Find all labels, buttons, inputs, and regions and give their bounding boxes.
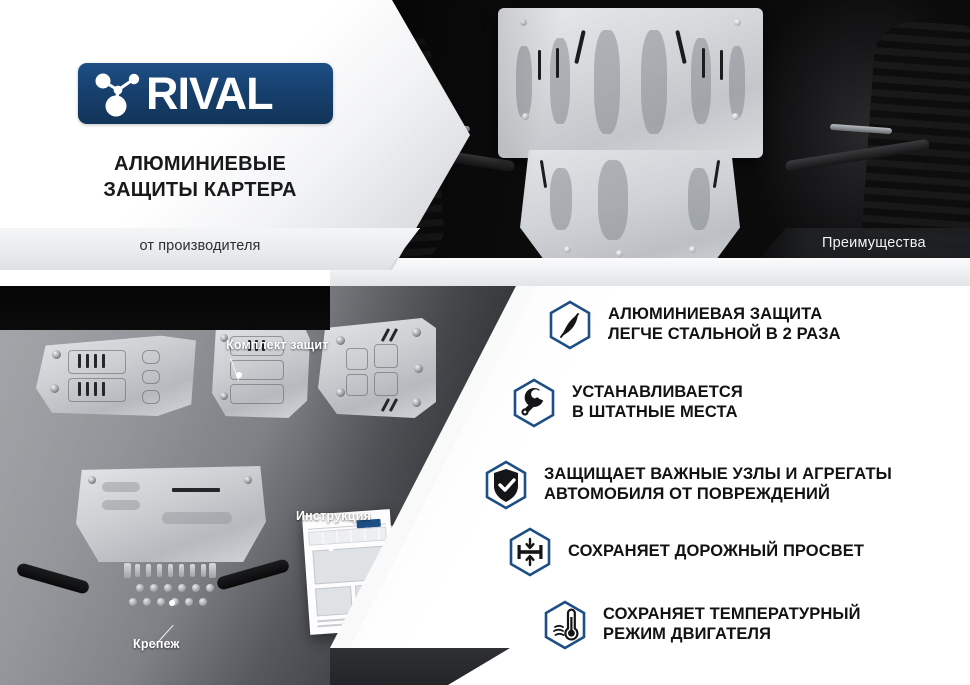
shield-check-icon xyxy=(484,460,528,510)
skid-plate-main xyxy=(76,466,266,562)
callout-hardware: Крепеж xyxy=(133,637,180,651)
feather-icon xyxy=(548,300,592,350)
advantages-tab-label: Преимущества xyxy=(822,235,926,251)
page-subtitle: от производителя xyxy=(0,238,400,254)
dark-separator-bar xyxy=(0,286,330,330)
rival-logo: RIVAL xyxy=(78,63,333,124)
thermometer-icon xyxy=(543,600,587,650)
wrench-icon xyxy=(512,378,556,428)
feature-row-4: СОХРАНЯЕТ ТЕМПЕРАТУРНЫЙ РЕЖИМ ДВИГАТЕЛЯ xyxy=(543,600,861,650)
callout-manual: Инструкция xyxy=(296,509,371,523)
ground-clearance-icon xyxy=(508,527,552,577)
feature-label-2: ЗАЩИЩАЕТ ВАЖНЫЕ УЗЛЫ И АГРЕГАТЫ АВТОМОБИ… xyxy=(544,465,892,505)
skid-plate-3 xyxy=(318,318,436,418)
feature-row-2: ЗАЩИЩАЕТ ВАЖНЫЕ УЗЛЫ И АГРЕГАТЫ АВТОМОБИ… xyxy=(484,460,892,510)
callout-dot-kit xyxy=(236,372,242,378)
callout-dot-manual xyxy=(328,545,334,551)
feature-row-1: УСТАНАВЛИВАЕТСЯ В ШТАТНЫЕ МЕСТА xyxy=(512,378,743,428)
page-title-line2: ЗАЩИТЫ КАРТЕРА xyxy=(0,178,400,204)
feature-row-0: АЛЮМИНИЕВАЯ ЗАЩИТА ЛЕГЧЕ СТАЛЬНОЙ В 2 РА… xyxy=(548,300,841,350)
feature-label-1: УСТАНАВЛИВАЕТСЯ В ШТАТНЫЕ МЕСТА xyxy=(572,383,743,423)
page-title-line1: АЛЮМИНИЕВЫЕ xyxy=(0,152,400,178)
feature-label-0: АЛЮМИНИЕВАЯ ЗАЩИТА ЛЕГЧЕ СТАЛЬНОЙ В 2 РА… xyxy=(608,305,841,345)
page-title: АЛЮМИНИЕВЫЕ ЗАЩИТЫ КАРТЕРА xyxy=(0,152,400,203)
callout-dot-hardware xyxy=(169,600,175,606)
feature-label-4: СОХРАНЯЕТ ТЕМПЕРАТУРНЫЙ РЕЖИМ ДВИГАТЕЛЯ xyxy=(603,605,861,645)
skid-plate-1 xyxy=(36,334,196,416)
advantages-tab: Преимущества xyxy=(760,228,970,258)
skid-plate-2 xyxy=(212,322,310,418)
infographic-banner: Преимущества RIVAL АЛЮМИНИЕВЫЕ ЗАЩИТЫ КА… xyxy=(0,0,970,685)
rival-logo-text: RIVAL xyxy=(146,71,273,116)
top-photo-bottom-band xyxy=(330,258,970,286)
feature-label-3: СОХРАНЯЕТ ДОРОЖНЫЙ ПРОСВЕТ xyxy=(568,542,864,562)
callout-kit: Комплект защит xyxy=(226,338,329,352)
feature-row-3: СОХРАНЯЕТ ДОРОЖНЫЙ ПРОСВЕТ xyxy=(508,527,864,577)
molecule-icon xyxy=(90,70,148,118)
